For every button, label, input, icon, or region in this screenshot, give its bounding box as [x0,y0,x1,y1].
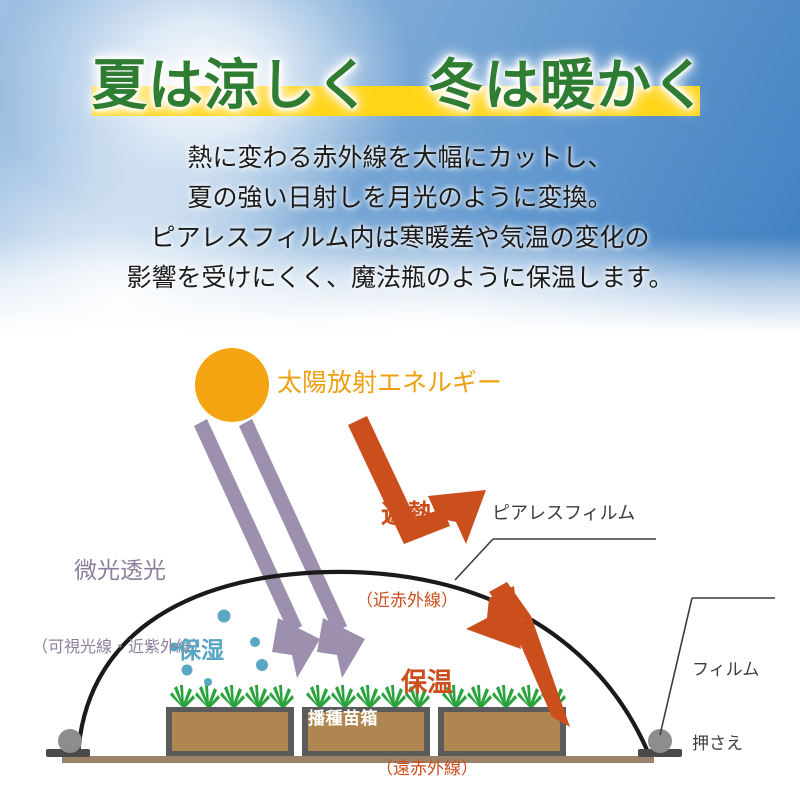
film-clip-left-icon [46,729,90,757]
headline-block: 夏は涼しく 冬は暖かく [0,48,800,122]
film-clip-label: フィルム 押さえ [692,609,759,800]
subtitle-line-4: 影響を受けにくく、魔法瓶のように保温します。 [0,258,800,298]
film-label: ピアレスフィルム [492,503,635,524]
light-transmission-label-main: 微光透光 [20,557,220,584]
subtitle-line-2: 夏の強い日射しを月光のように変換。 [0,178,800,218]
film-clip-label-line-1: フィルム [692,658,759,683]
heat-retention-label-sub: （遠赤外線） [376,759,478,779]
subtitle-line-3: ピアレスフィルム内は寒暖差や気温の変化の [0,218,800,258]
seed-box-label: 播種苗箱 [308,709,378,729]
moisture-retention-label: 保湿 [178,637,224,664]
heat-retention-label: 保温 （遠赤外線） [376,606,478,800]
page-title: 夏は涼しく 冬は暖かく [0,48,800,122]
subtitle-line-1: 熱に変わる赤外線を大幅にカットし、 [0,138,800,178]
film-clip-label-line-2: 押さえ [692,732,759,757]
poster-page: 夏は涼しく 冬は暖かく 熱に変わる赤外線を大幅にカットし、 夏の強い日射しを月光… [0,0,800,800]
sun-icon [195,348,269,422]
seedling-box-1 [166,707,294,756]
light-transmission-label: 微光透光 （可視光線・近紫外線） [20,503,220,712]
heat-shield-label-main: 遮熱 [356,499,458,530]
ground-line [62,756,654,763]
subtitle-block: 熱に変わる赤外線を大幅にカットし、 夏の強い日射しを月光のように変換。 ピアレス… [0,138,800,298]
solar-energy-label: 太陽放射エネルギー [277,369,502,399]
heat-retention-label-main: 保温 [376,667,478,698]
film-leader-line [455,539,656,580]
grass-icons [170,685,566,707]
